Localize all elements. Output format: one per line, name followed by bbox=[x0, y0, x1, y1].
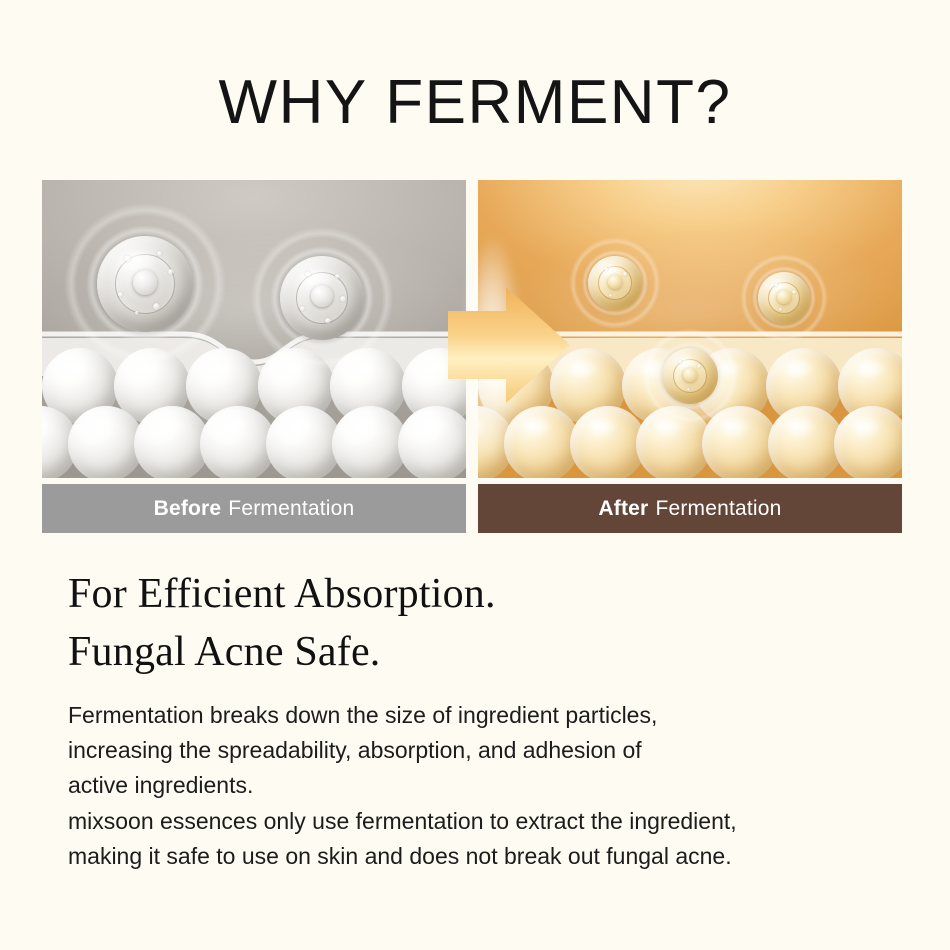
section-headline: For Efficient Absorption. Fungal Acne Sa… bbox=[68, 566, 888, 682]
paragraph-2-line-1: mixsoon essences only use fermentation t… bbox=[68, 804, 918, 839]
pearl bbox=[266, 406, 342, 478]
pearl bbox=[504, 406, 580, 478]
pearl bbox=[834, 406, 902, 478]
molecule-core bbox=[311, 285, 333, 307]
pearl bbox=[768, 406, 844, 478]
after-molecule-small bbox=[588, 256, 642, 310]
molecule-core bbox=[608, 275, 622, 289]
paragraph-2: mixsoon essences only use fermentation t… bbox=[68, 804, 918, 874]
pearl bbox=[200, 406, 276, 478]
after-illustration bbox=[478, 180, 902, 478]
paragraph-2-line-2: making it safe to use on skin and does n… bbox=[68, 839, 918, 874]
molecule-highlight bbox=[598, 263, 623, 277]
paragraph-1: Fermentation breaks down the size of ing… bbox=[68, 698, 918, 804]
after-caption-rest: Fermentation bbox=[655, 497, 781, 521]
after-molecule-small bbox=[758, 272, 810, 324]
headline-line-2: Fungal Acne Safe. bbox=[68, 624, 888, 682]
pearl bbox=[398, 406, 466, 478]
before-molecule-large bbox=[280, 256, 364, 340]
body-copy: Fermentation breaks down the size of ing… bbox=[68, 698, 918, 874]
pearl bbox=[68, 406, 144, 478]
molecule-highlight bbox=[295, 267, 334, 289]
paragraph-1-line-1: Fermentation breaks down the size of ing… bbox=[68, 698, 918, 733]
before-illustration bbox=[42, 180, 466, 478]
after-caption-bar: After Fermentation bbox=[478, 484, 902, 533]
headline-line-1: For Efficient Absorption. bbox=[68, 566, 888, 624]
paragraph-1-line-2: increasing the spreadability, absorption… bbox=[68, 733, 918, 768]
pearl bbox=[570, 406, 646, 478]
molecule-core bbox=[133, 270, 158, 295]
molecule-highlight bbox=[672, 355, 698, 370]
after-caption-emphasis: After bbox=[598, 497, 648, 521]
pearl bbox=[134, 406, 210, 478]
before-panel-group: Before Fermentation bbox=[42, 180, 466, 533]
after-panel-group: After Fermentation bbox=[478, 180, 902, 533]
pearl bbox=[332, 406, 408, 478]
before-after-comparison: Before Fermentation bbox=[42, 180, 908, 533]
before-caption-emphasis: Before bbox=[154, 497, 222, 521]
before-caption-bar: Before Fermentation bbox=[42, 484, 466, 533]
before-pearl-row-bottom bbox=[42, 406, 432, 478]
molecule-core bbox=[777, 290, 791, 304]
page-title: WHY FERMENT? bbox=[0, 72, 950, 134]
paragraph-1-line-3: active ingredients. bbox=[68, 768, 918, 803]
before-molecule-large bbox=[97, 236, 193, 332]
before-caption-rest: Fermentation bbox=[228, 497, 354, 521]
after-molecule-penetrating bbox=[662, 348, 718, 404]
